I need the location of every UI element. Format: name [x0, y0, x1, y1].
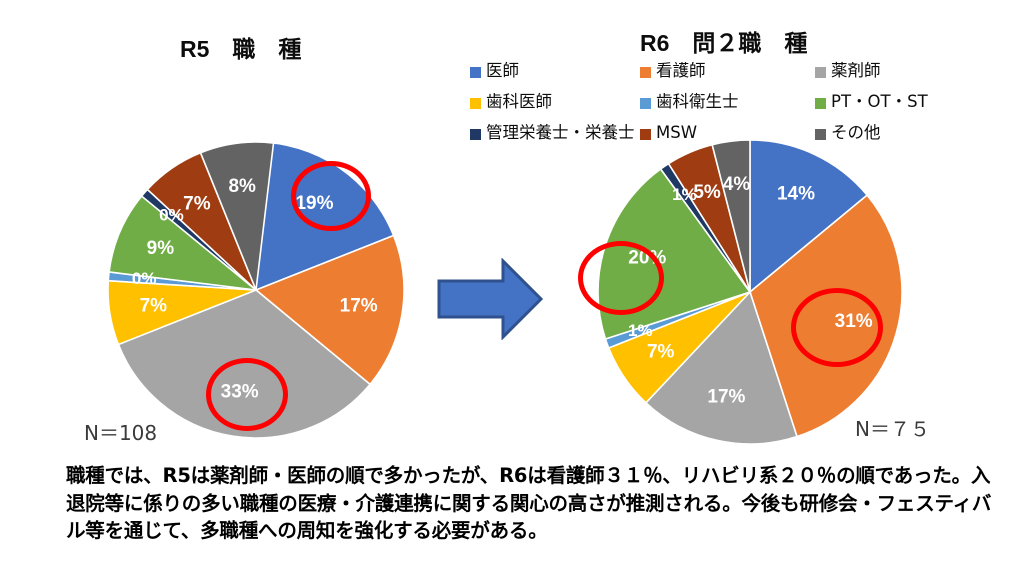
left-pie-chart: 19%17%33%7%0%9%0%7%8% [106, 140, 406, 440]
legend-item-label: 看護師 [656, 63, 706, 80]
legend-item-label: 薬剤師 [831, 63, 881, 80]
legend-item-label: PT・OT・ST [831, 94, 928, 111]
pie-slice-label: 19% [295, 193, 333, 214]
pie-slice-label: 20% [628, 248, 666, 269]
legend-item-4: 歯科衛生士 [640, 94, 815, 111]
right-pie-chart: 14%31%17%7%1%20%1%5%4% [596, 138, 904, 446]
legend-item-5: PT・OT・ST [815, 94, 938, 111]
legend-item-label: 歯科医師 [486, 94, 552, 111]
pie-slice-label: 17% [340, 295, 378, 316]
legend-item-label: 歯科衛生士 [656, 94, 739, 111]
legend-swatch-icon [470, 129, 481, 140]
pie-slice-label: 7% [140, 295, 168, 316]
left-pie-svg: 19%17%33%7%0%9%0%7%8% [106, 140, 406, 440]
pie-slice-label: 0% [132, 269, 157, 288]
right-pie-svg: 14%31%17%7%1%20%1%5%4% [596, 138, 904, 446]
pie-slice-label: 17% [707, 386, 745, 407]
left-chart-title: R5 職 種 [180, 30, 301, 64]
summary-caption: 職種では、R5は薬剤師・医師の順で多かったが、R6は看護師３１％、リハビリ系２０… [66, 462, 1006, 545]
pie-slice-label: 4% [723, 174, 751, 195]
legend-item-1: 看護師 [640, 63, 815, 80]
legend-swatch-icon [470, 98, 481, 109]
legend-item-label: 医師 [486, 63, 519, 80]
pie-slice-label: 33% [221, 382, 259, 403]
legend-swatch-icon [815, 98, 826, 109]
right-chart-title: R6 問２職 種 [640, 24, 807, 58]
legend-swatch-icon [470, 67, 481, 78]
slide-canvas: R5 職 種 R6 問２職 種 医師看護師薬剤師歯科医師歯科衛生士PT・OT・S… [0, 0, 1024, 576]
pie-slice-label: 8% [228, 176, 256, 197]
legend-swatch-icon [640, 98, 651, 109]
legend-item-0: 医師 [470, 63, 640, 80]
pie-slice-label: 1% [628, 321, 653, 340]
pie-slice-label: 7% [183, 193, 211, 214]
pie-slice-label: 14% [777, 183, 815, 204]
pie-slice-label: 5% [693, 182, 721, 203]
pie-slice-label: 0% [159, 206, 184, 225]
legend-item-2: 薬剤師 [815, 63, 938, 80]
right-sample-size-label: N＝７５ [855, 413, 930, 442]
legend-swatch-icon [815, 67, 826, 78]
pie-slice-label: 7% [647, 342, 675, 363]
legend-item-3: 歯科医師 [470, 94, 640, 111]
left-sample-size-label: N＝108 [84, 417, 157, 446]
pie-slice-label: 31% [835, 311, 873, 332]
legend-swatch-icon [640, 67, 651, 78]
pie-slice-label: 9% [147, 238, 175, 259]
right-arrow-icon [437, 258, 543, 340]
